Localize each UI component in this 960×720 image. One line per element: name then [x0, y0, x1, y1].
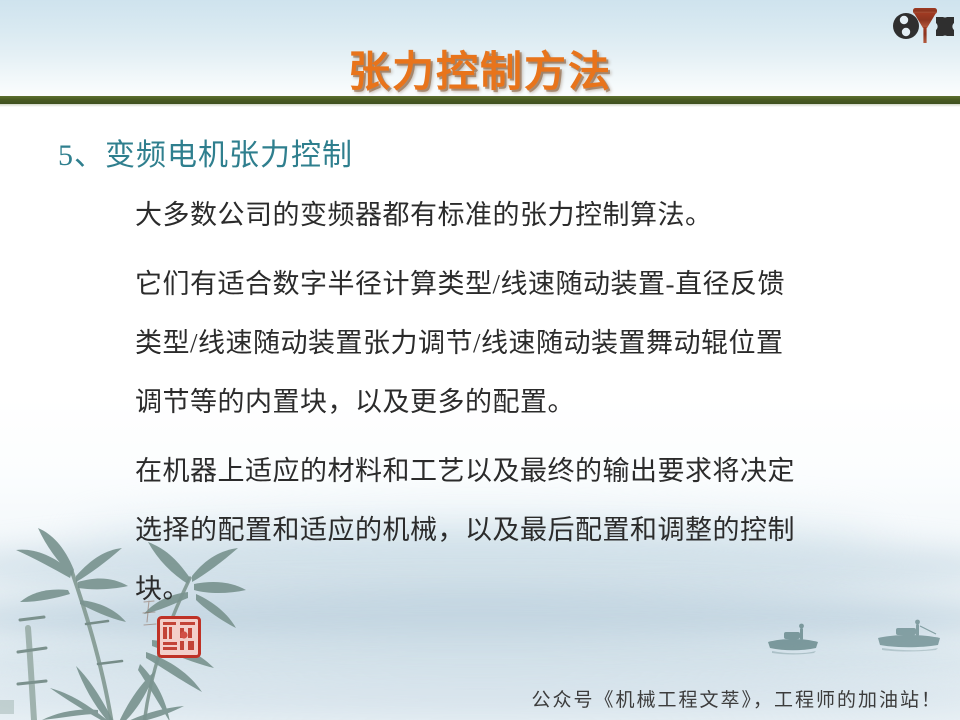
text-line: 类型/线速随动装置张力调节/线速随动装置舞动辊位置	[135, 314, 925, 373]
logo-gear-cross-mark	[936, 17, 954, 36]
presentation-slide: 张力控制方法 5、变频电机张力控制 大多数	[0, 0, 960, 720]
text-line: 选择的配置和适应的机械，以及最后配置和调整的控制	[135, 501, 925, 560]
footer-watermark: 公众号《机械工程文萃》，工程师的加油站！	[0, 685, 942, 712]
text-line: 在机器上适应的材料和工艺以及最终的输出要求将决定	[135, 442, 925, 501]
header-divider-shadow	[0, 104, 960, 107]
section-heading: 5、变频电机张力控制	[58, 130, 353, 174]
body-text-block: 大多数公司的变频器都有标准的张力控制算法。 它们有适合数字半径计算类型/线速随动…	[135, 186, 925, 629]
page-title: 张力控制方法	[0, 38, 960, 99]
paragraph-3: 在机器上适应的材料和工艺以及最终的输出要求将决定 选择的配置和适应的机械，以及最…	[135, 442, 925, 619]
text-line: 块。	[135, 560, 925, 619]
paragraph-2: 它们有适合数字半径计算类型/线速随动装置-直径反馈 类型/线速随动装置张力调节/…	[135, 255, 925, 432]
text-line: 大多数公司的变频器都有标准的张力控制算法。	[135, 186, 925, 245]
byx-company-logo	[893, 4, 955, 44]
text-line: 调节等的内置块，以及更多的配置。	[135, 373, 925, 432]
paragraph-1: 大多数公司的变频器都有标准的张力控制算法。	[135, 186, 925, 245]
logo-circle-mark	[893, 13, 919, 39]
text-line: 它们有适合数字半径计算类型/线速随动装置-直径反馈	[135, 255, 925, 314]
